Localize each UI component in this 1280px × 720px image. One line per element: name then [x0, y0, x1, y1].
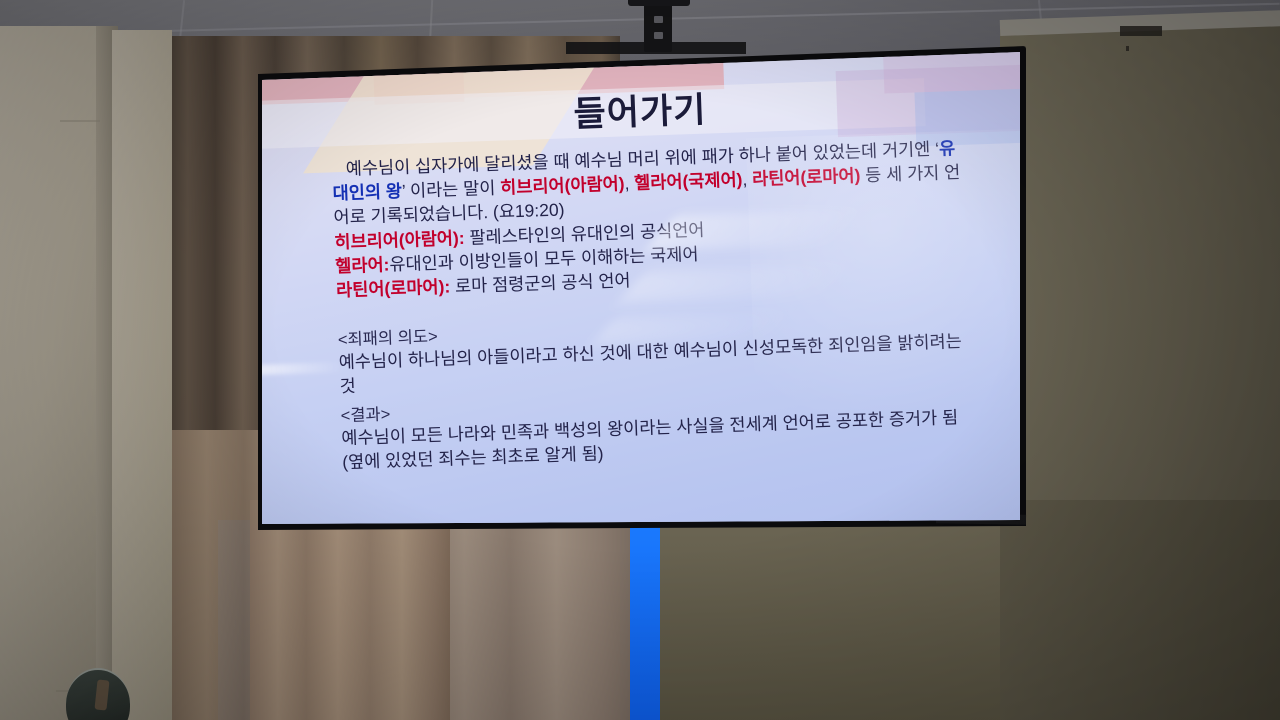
language-separator: : — [458, 228, 469, 248]
ceiling-mount-bracket — [644, 0, 672, 52]
intro-mid: ’ 이라는 말이 — [402, 177, 501, 200]
intro-highlight-red-2: 헬라어(국제어) — [634, 169, 743, 193]
wall-mounted-tv[interactable]: 들어가기 예수님이 십자가에 달리셨을 때 예수님 머리 위에 패가 하나 붙어… — [236, 46, 1026, 536]
wall-fixture — [1126, 46, 1129, 51]
ceiling-mount-plate — [628, 0, 690, 6]
photo-scene: 들어가기 예수님이 십자가에 달리셨을 때 예수님 머리 위에 패가 하나 붙어… — [0, 0, 1280, 720]
language-term: 라틴어(로마어) — [336, 277, 445, 301]
language-separator: : — [444, 276, 455, 296]
intro-highlight-red-1: 히브리어(아람어) — [500, 173, 625, 197]
language-term: 헬라어 — [335, 255, 384, 277]
screen-glare — [236, 362, 344, 376]
tv-screen[interactable]: 들어가기 예수님이 십자가에 달리셨을 때 예수님 머리 위에 패가 하나 붙어… — [236, 46, 1026, 536]
mount-hole-icon — [654, 16, 663, 23]
wall-column — [0, 26, 110, 720]
language-term: 히브리어(아람어) — [334, 228, 459, 252]
ceiling-vent — [1120, 26, 1162, 36]
wall-column-face — [112, 30, 172, 720]
mount-hole-icon — [654, 32, 663, 39]
presentation-slide[interactable]: 들어가기 예수님이 십자가에 달리셨을 때 예수님 머리 위에 패가 하나 붙어… — [236, 46, 1026, 536]
lower-wall — [1000, 500, 1280, 720]
language-definition: 로마 점령군의 공식 언어 — [455, 270, 631, 296]
wall-seam — [60, 120, 100, 122]
